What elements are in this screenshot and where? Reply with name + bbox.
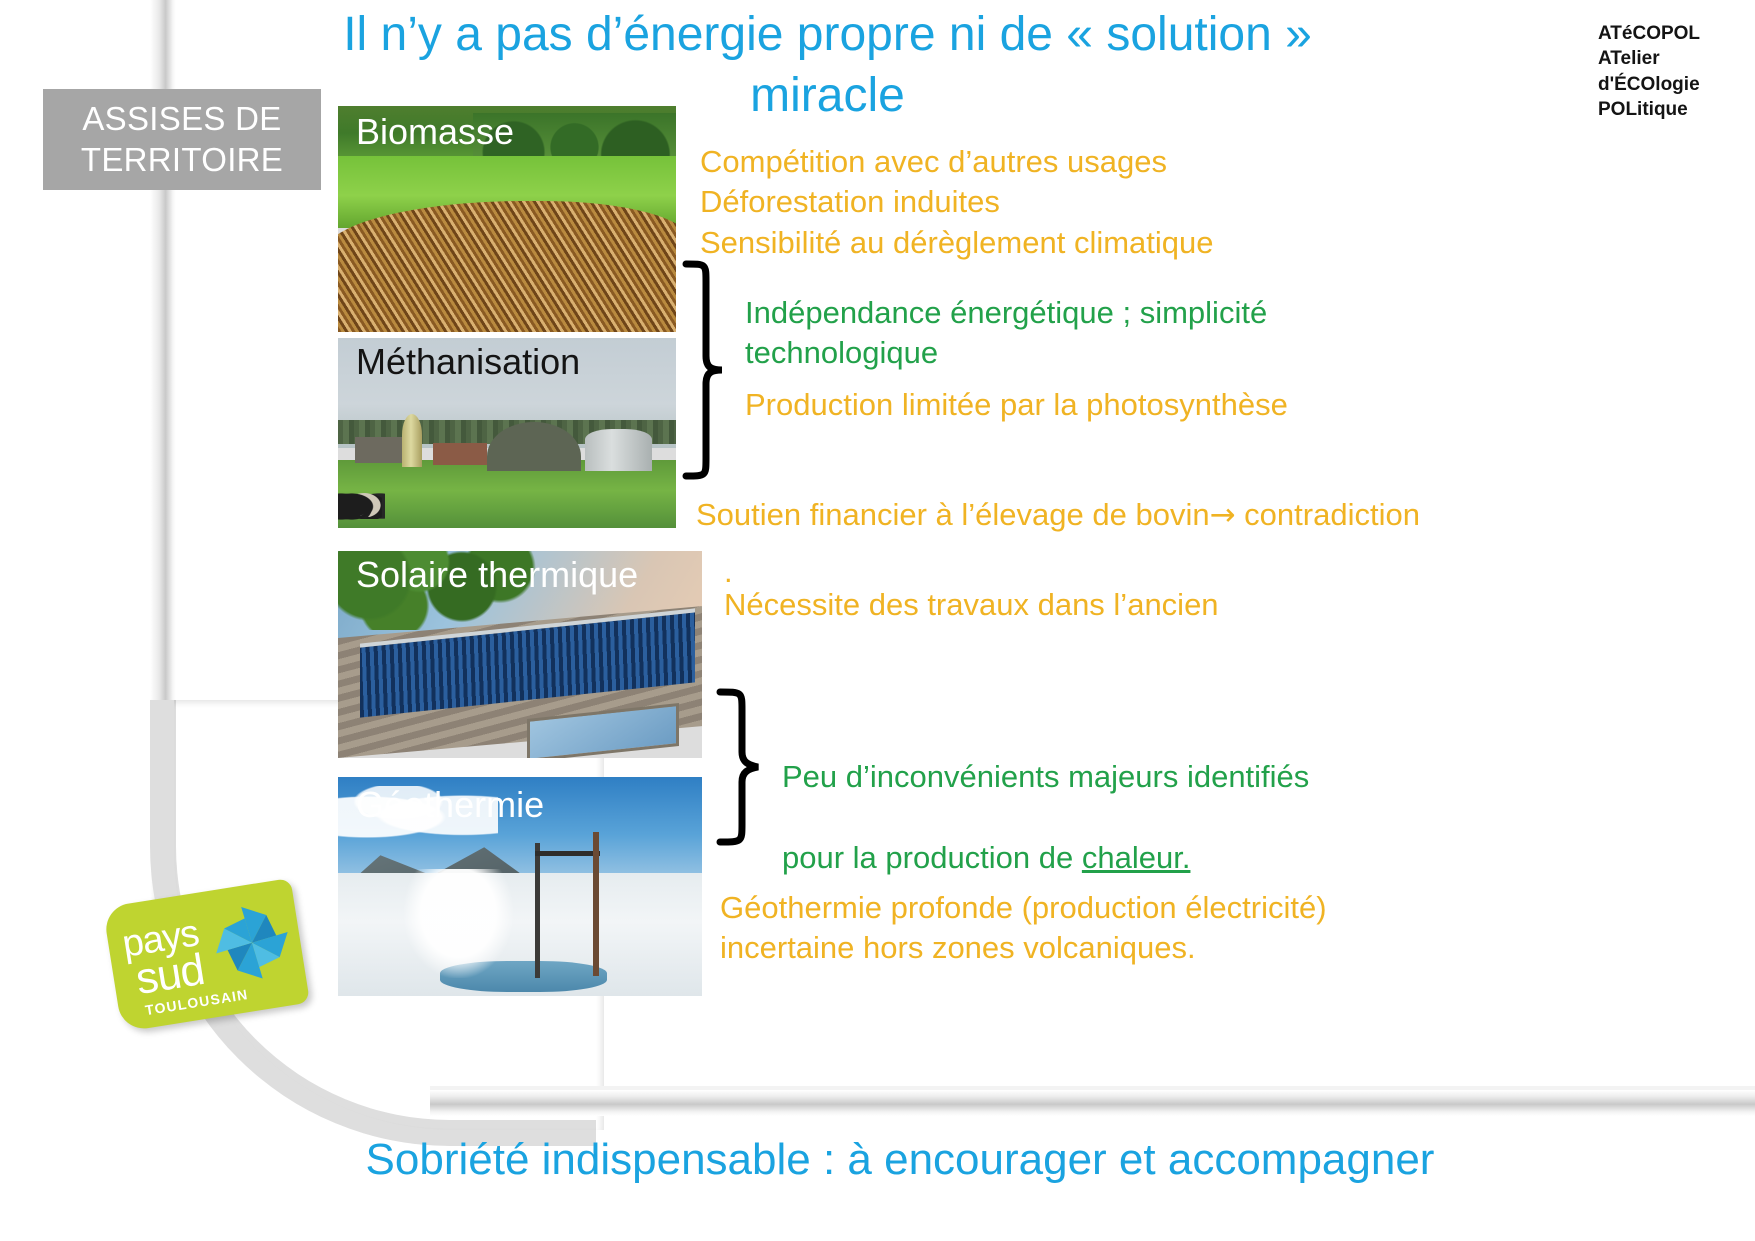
annotation-production-limitee: Production limitée par la photosynthèse [745, 385, 1545, 425]
bottom-statement: Sobriété indispensable : à encourager et… [300, 1136, 1500, 1184]
annotation-solaire-travaux: Nécessite des travaux dans l’ancien [724, 585, 1424, 625]
photo-biomasse: Biomasse [338, 106, 676, 332]
methanisation-barn [355, 437, 402, 464]
brace-solaire-geothermie [706, 688, 768, 846]
photo-geothermie: Géothermie [338, 777, 702, 996]
soutien-text-suffix: contradiction [1236, 497, 1420, 532]
photo-caption-methanisation: Méthanisation [356, 344, 580, 380]
biomasse-woodchip-pile [338, 201, 676, 332]
geothermie-steam-plume [404, 869, 513, 979]
soutien-text-prefix: Soutien financier à l’élevage de bovin [696, 497, 1210, 532]
pinwheel-icon [204, 895, 300, 991]
atecopol-acronym-block: ATéCOPOL ATelier d'ÉCOlogie POLitique [1598, 21, 1700, 122]
right-arrow-icon: → [1210, 497, 1236, 533]
geothermie-support-pole [593, 832, 599, 977]
slide-canvas: ASSISES DE TERRITOIRE Il n’y a pas d’éne… [0, 0, 1755, 1241]
annotation-soutien-financier: Soutien financier à l’élevage de bovin→ … [696, 455, 1716, 536]
geothermie-wellhead-arm [535, 851, 601, 856]
assises-label: ASSISES DE TERRITOIRE [81, 99, 283, 180]
peu-inconvenients-chaleur-underlined: chaleur. [1082, 840, 1191, 875]
photo-caption-geothermie: Géothermie [356, 787, 544, 823]
geothermie-wellhead-mast [535, 843, 540, 979]
annotation-geothermie-profonde: Géothermie profonde (production électric… [720, 888, 1480, 969]
logo-text-sud: sud [133, 951, 206, 1000]
peu-inconvenients-line-2-prefix: pour la production de [782, 840, 1082, 875]
peu-inconvenients-line-2: pour la production de chaleur. [782, 838, 1482, 878]
photo-methanisation: Méthanisation [338, 338, 676, 528]
peu-inconvenients-line-1: Peu d’inconvénients majeurs identifiés [782, 757, 1482, 797]
photo-caption-biomasse: Biomasse [356, 114, 514, 150]
methanisation-red-roof-building [433, 443, 487, 466]
annotation-independance-energetique: Indépendance énergétique ; simplicité te… [745, 293, 1445, 374]
annotation-biomasse-drawbacks: Compétition avec d’autres usages Défores… [700, 142, 1540, 263]
methanisation-silo [402, 414, 422, 467]
decorative-horizontal-swoosh [430, 1090, 1755, 1116]
assises-de-territoire-box: ASSISES DE TERRITOIRE [43, 89, 321, 190]
methanisation-grazing-cows [338, 486, 676, 524]
brace-biomasse-methanisation [672, 260, 732, 480]
photo-solaire-thermique: Solaire thermique [338, 551, 702, 758]
methanisation-storage-tank [585, 429, 653, 471]
photo-caption-solaire-thermique: Solaire thermique [356, 557, 638, 593]
